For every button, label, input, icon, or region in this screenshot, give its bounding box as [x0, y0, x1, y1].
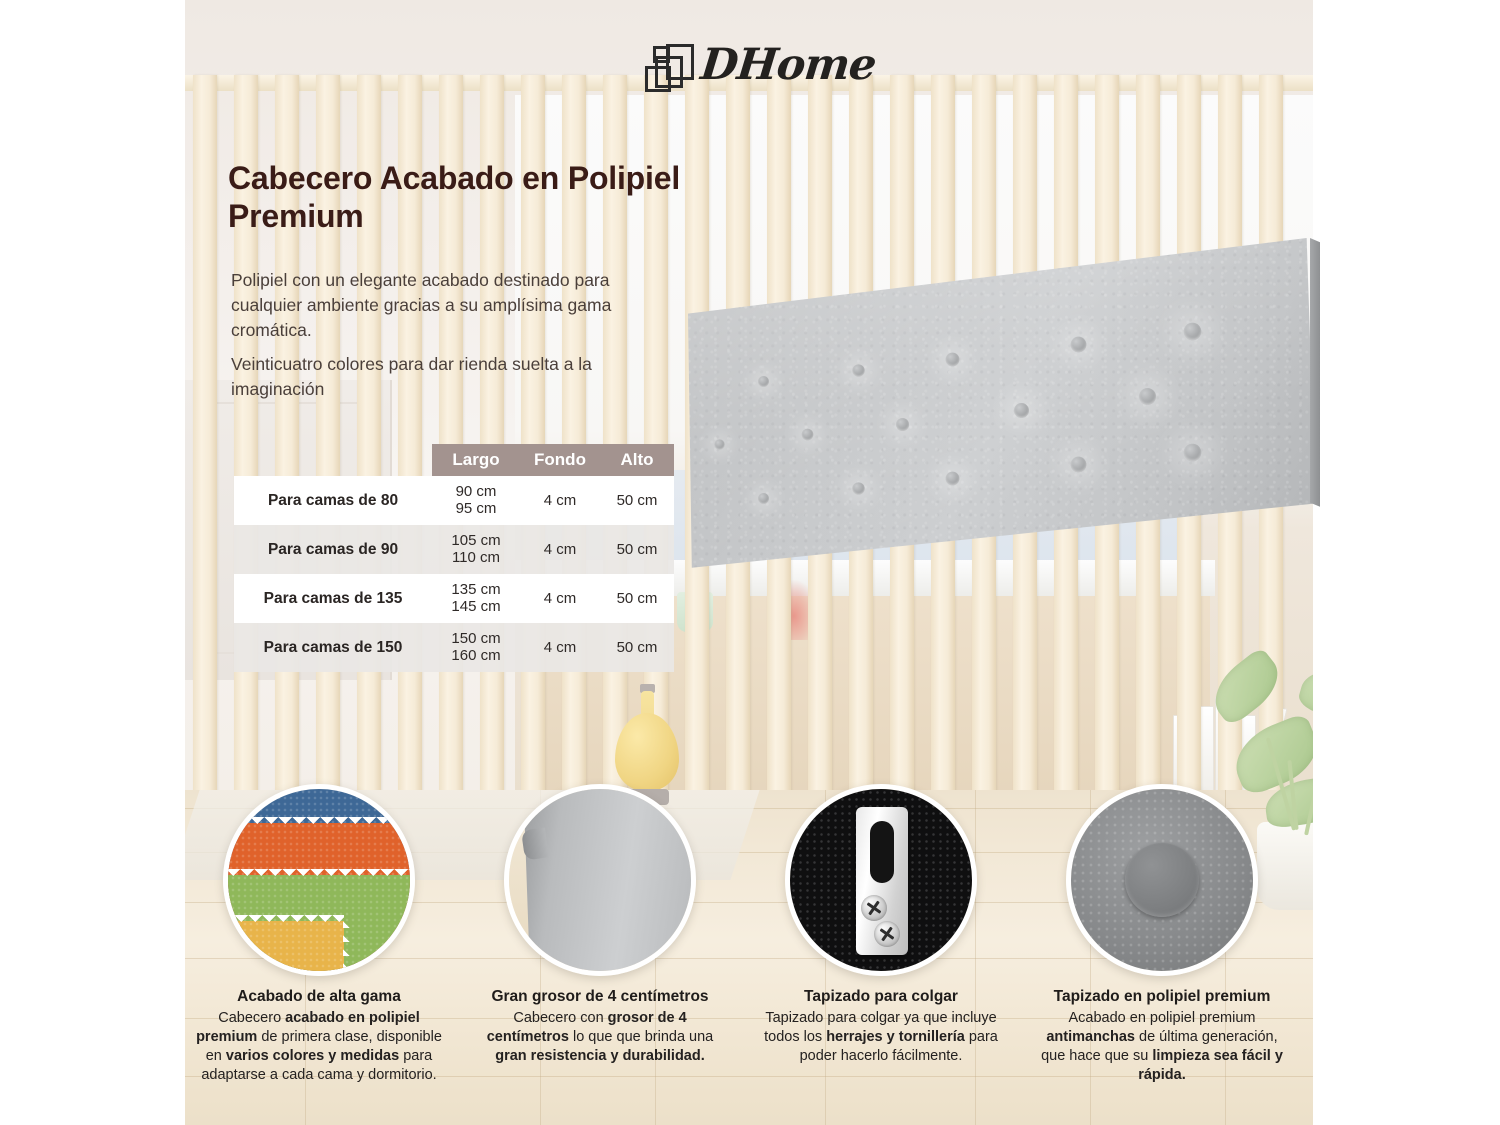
polipiel-sheet	[523, 784, 696, 976]
cell-largo: 135 cm145 cm	[432, 582, 520, 616]
cell-largo: 150 cm160 cm	[432, 631, 520, 665]
cell-largo: 105 cm110 cm	[432, 533, 520, 567]
cell-bed-size: Para camas de 80	[234, 492, 432, 510]
cell-alto: 50 cm	[600, 590, 674, 607]
screw-icon	[861, 895, 887, 921]
feature-caption-3: Tapizado para colgar Tapizado para colga…	[747, 988, 1015, 1066]
cell-alto: 50 cm	[600, 541, 674, 558]
plant-leaf	[1203, 646, 1290, 728]
feature-title: Tapizado para colgar	[747, 988, 1015, 1006]
overlapping-squares-icon	[645, 44, 695, 96]
feature-title: Acabado de alta gama	[185, 988, 453, 1006]
thickness-sheet-icon	[504, 784, 696, 976]
table-row: Para camas de 135135 cm145 cm4 cm50 cm	[234, 574, 674, 623]
infographic-canvas: DHome Cabecero Acabado en Polipiel Premi…	[0, 0, 1500, 1125]
feature-block-1: Acabado de alta gama Cabecero acabado en…	[185, 784, 453, 1084]
table-row: Para camas de 150150 cm160 cm4 cm50 cm	[234, 623, 674, 672]
cell-fondo: 4 cm	[520, 590, 600, 607]
description-paragraph-1: Polipiel con un elegante acabado destina…	[231, 268, 683, 343]
tufting-button	[946, 471, 960, 485]
table-row: Para camas de 8090 cm95 cm4 cm50 cm	[234, 476, 674, 525]
bracket-slot	[870, 821, 894, 883]
feature-title: Tapizado en polipiel premium	[1028, 988, 1296, 1006]
tufting-button	[1183, 322, 1201, 340]
wood-slat	[193, 75, 217, 800]
brand-logo: DHome	[645, 38, 875, 102]
tufting-button	[946, 352, 960, 366]
cell-largo: 90 cm95 cm	[432, 484, 520, 518]
feature-block-3: Tapizado para colgar Tapizado para colga…	[747, 784, 1015, 1066]
brand-name: DHome	[698, 40, 878, 90]
fabric-swatches-icon	[223, 784, 415, 976]
headboard-sheen	[688, 238, 1318, 658]
feature-body: Cabecero con grosor de 4 centímetros lo …	[466, 1009, 734, 1066]
feature-caption-1: Acabado de alta gama Cabecero acabado en…	[185, 988, 453, 1084]
cell-bed-size: Para camas de 135	[234, 590, 432, 608]
tufting-button	[896, 418, 909, 431]
table-header-row: Largo Fondo Alto	[432, 444, 674, 476]
column-header-fondo: Fondo	[520, 450, 600, 470]
tufting-button	[852, 364, 864, 376]
upholstery-button-icon	[1066, 784, 1258, 976]
tufting-button	[758, 376, 769, 387]
headboard-side-edge	[1310, 238, 1320, 658]
cell-fondo: 4 cm	[520, 639, 600, 656]
tufted-headboard-product	[688, 238, 1318, 658]
feature-body: Cabecero acabado en polipiel premium de …	[185, 1009, 453, 1084]
cell-fondo: 4 cm	[520, 492, 600, 509]
tufting-button	[1125, 843, 1199, 917]
feature-title: Gran grosor de 4 centímetros	[466, 988, 734, 1006]
cell-alto: 50 cm	[600, 492, 674, 509]
table-row: Para camas de 90105 cm110 cm4 cm50 cm	[234, 525, 674, 574]
sheet-fold-edge	[521, 827, 549, 860]
headboard-panel	[688, 238, 1318, 658]
description-paragraph-2: Veinticuatro colores para dar rienda sue…	[231, 352, 683, 402]
tufting-button	[1183, 444, 1201, 462]
screw-icon	[874, 921, 900, 947]
cell-bed-size: Para camas de 90	[234, 541, 432, 559]
feature-block-4: Tapizado en polipiel premium Acabado en …	[1028, 784, 1296, 1084]
lamp-body	[615, 713, 679, 791]
metal-bracket	[856, 807, 908, 955]
cell-fondo: 4 cm	[520, 541, 600, 558]
tufting-button	[1071, 337, 1087, 353]
cell-alto: 50 cm	[600, 639, 674, 656]
feature-body: Tapizado para colgar ya que incluye todo…	[747, 1009, 1015, 1066]
feature-caption-4: Tapizado en polipiel premium Acabado en …	[1028, 988, 1296, 1084]
feature-block-2: Gran grosor de 4 centímetros Cabecero co…	[466, 784, 734, 1066]
hanging-bracket-icon	[785, 784, 977, 976]
swatch-yellow	[223, 921, 344, 976]
page-title: Cabecero Acabado en Polipiel Premium	[228, 160, 698, 236]
column-header-largo: Largo	[432, 450, 520, 470]
tufting-button	[852, 482, 864, 494]
column-header-alto: Alto	[600, 450, 674, 470]
feature-body: Acabado en polipiel premium antimanchas …	[1028, 1009, 1296, 1084]
feature-caption-2: Gran grosor de 4 centímetros Cabecero co…	[466, 988, 734, 1066]
cell-bed-size: Para camas de 150	[234, 639, 432, 657]
